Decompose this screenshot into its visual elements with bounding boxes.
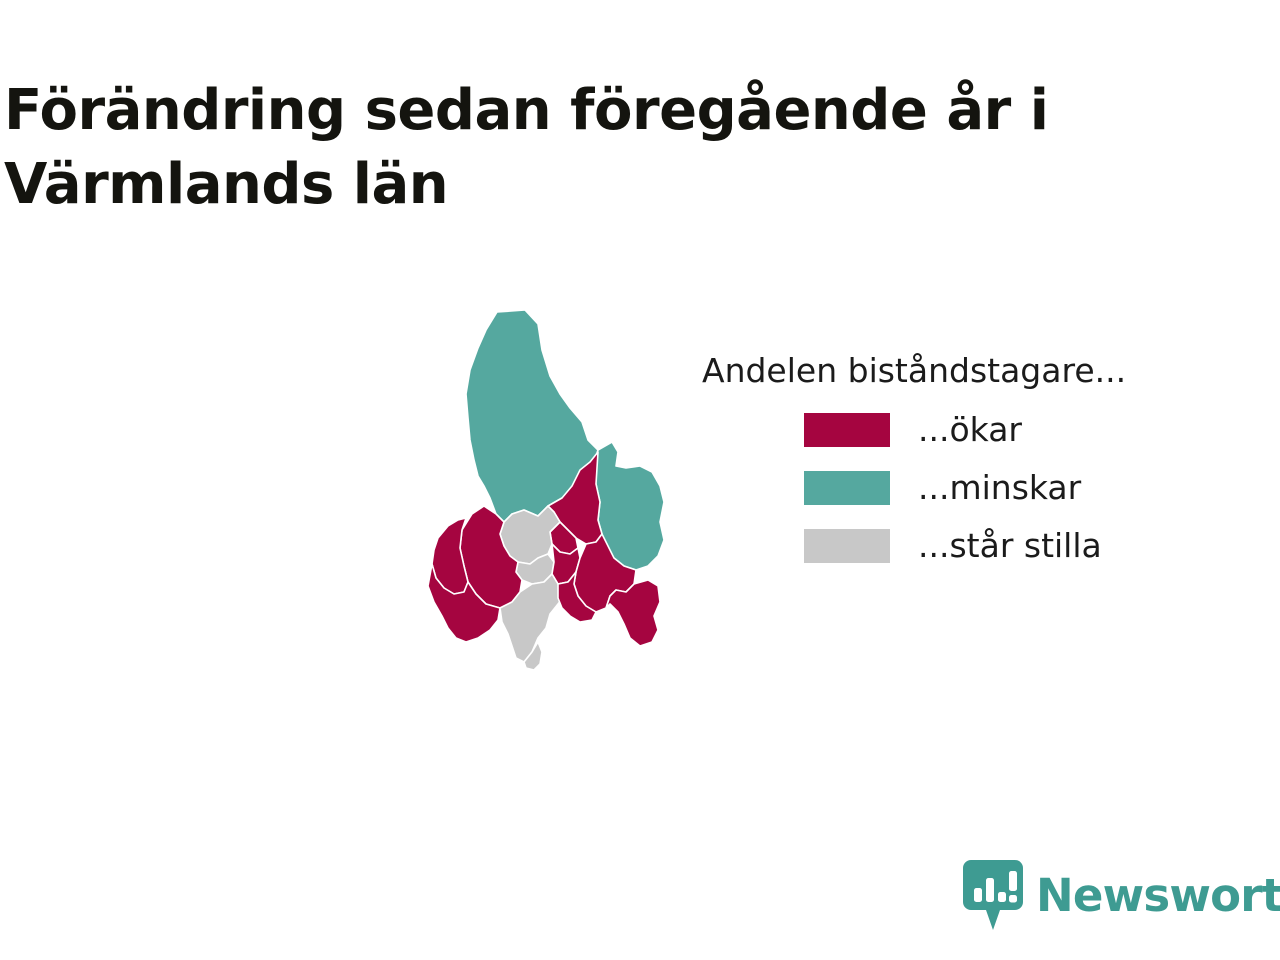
legend-item-unchanged[interactable]: ...står stilla — [700, 517, 1240, 575]
municipality-shapes — [428, 310, 664, 670]
legend-swatch-unchanged — [804, 529, 890, 563]
legend-label-increase: ...ökar — [918, 413, 1022, 446]
page-title: Förändring sedan föregående år i Värmlan… — [4, 74, 1154, 223]
newsworthy-logo[interactable]: Newsworthy — [962, 858, 1280, 932]
legend-label-decrease: ...minskar — [918, 471, 1081, 504]
legend-title: Andelen biståndstagare... — [702, 352, 1240, 391]
choropleth-map — [420, 290, 700, 680]
legend-swatch-increase — [804, 413, 890, 447]
speech-bubble-bar-chart-icon — [962, 858, 1024, 932]
legend-item-decrease[interactable]: ...minskar — [700, 459, 1240, 517]
logo-wordmark: Newsworthy — [1036, 873, 1280, 918]
legend-swatch-decrease — [804, 471, 890, 505]
map-svg — [420, 290, 700, 680]
legend-label-unchanged: ...står stilla — [918, 529, 1102, 562]
legend: Andelen biståndstagare... ...ökar ...min… — [700, 352, 1240, 575]
legend-item-increase[interactable]: ...ökar — [700, 401, 1240, 459]
